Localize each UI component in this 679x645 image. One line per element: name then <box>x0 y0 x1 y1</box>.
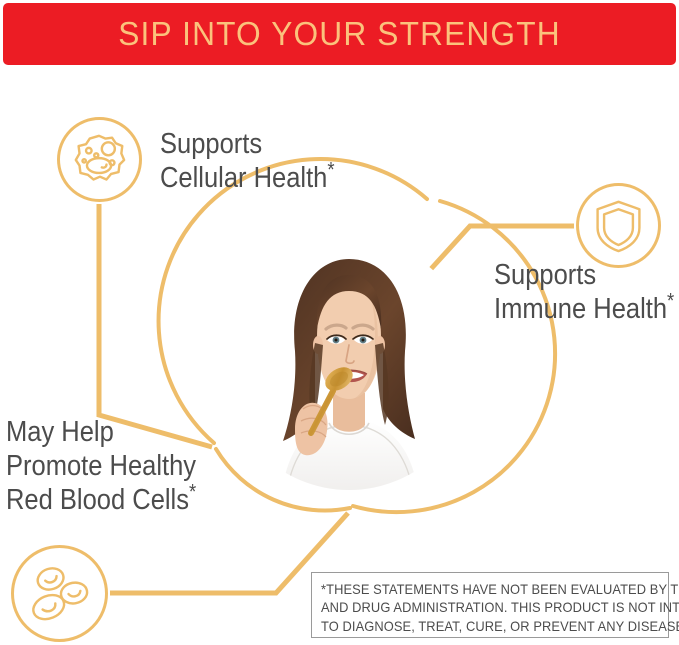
asterisk: * <box>189 481 196 504</box>
feature-label-immune-line1: Supports <box>494 258 674 292</box>
benefits-diagram: Supports Cellular Health* Supports Immun… <box>0 65 679 645</box>
banner-title: SIP INTO YOUR STRENGTH <box>118 15 561 53</box>
feature-label-cellular-line1: Supports <box>160 127 335 161</box>
asterisk: * <box>327 159 334 182</box>
feature-label-rbc-line2: Promote Healthy <box>6 449 196 483</box>
fda-disclaimer-box: *THESE STATEMENTS HAVE NOT BEEN EVALUATE… <box>311 572 669 638</box>
feature-label-rbc-line1: May Help <box>6 415 196 449</box>
feature-label-cellular-line2: Cellular Health* <box>160 161 335 195</box>
disclaimer-line-3: TO DIAGNOSE, TREAT, CURE, OR PREVENT ANY… <box>321 617 632 635</box>
shield-icon <box>579 186 658 265</box>
feature-label-red-blood-cells: May Help Promote Healthy Red Blood Cells… <box>6 415 196 518</box>
disclaimer-line-2: AND DRUG ADMINISTRATION. THIS PRODUCT IS… <box>321 598 632 616</box>
red-blood-cells-icon <box>14 548 105 639</box>
cell-icon <box>60 120 139 199</box>
connector-cellular <box>99 204 212 447</box>
asterisk: * <box>667 290 674 313</box>
feature-label-immune: Supports Immune Health* <box>494 258 674 326</box>
shield-icon-node <box>576 183 661 268</box>
red-blood-cells-icon-node <box>11 545 108 642</box>
woman-with-spoon-illustration <box>233 233 465 513</box>
header-banner: SIP INTO YOUR STRENGTH <box>3 3 676 65</box>
feature-label-immune-line2: Immune Health* <box>494 292 674 326</box>
disclaimer-line-1: *THESE STATEMENTS HAVE NOT BEEN EVALUATE… <box>321 580 632 598</box>
center-photo <box>233 233 465 513</box>
feature-label-rbc-line3: Red Blood Cells* <box>6 483 196 517</box>
cell-icon-node <box>57 117 142 202</box>
feature-label-cellular: Supports Cellular Health* <box>160 127 335 195</box>
